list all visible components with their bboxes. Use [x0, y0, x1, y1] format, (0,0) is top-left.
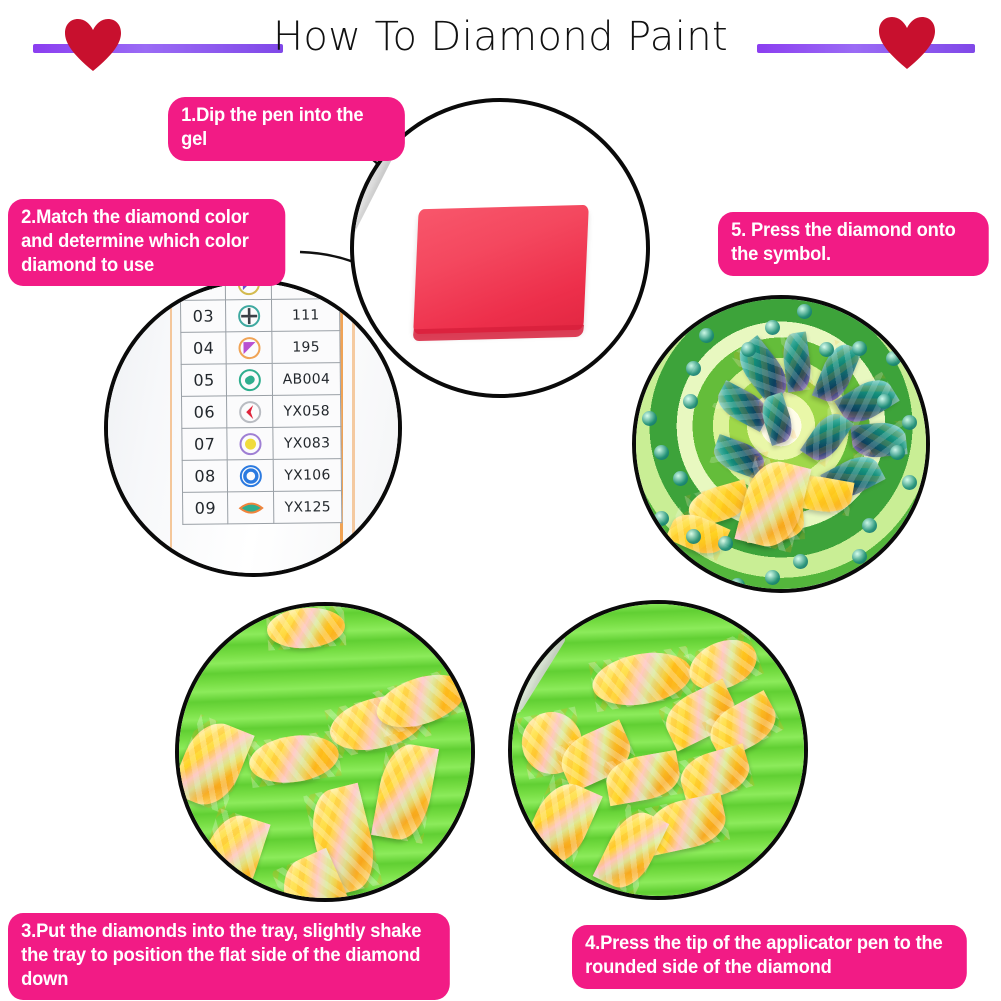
- legend-row: 06YX058: [182, 395, 341, 429]
- diamond: [683, 394, 698, 409]
- legend-code: 093: [271, 279, 339, 299]
- step-2-label: 2.Match the diamond color and determine …: [8, 199, 285, 286]
- step-4-photo: [508, 600, 808, 900]
- legend-number: 07: [182, 428, 228, 460]
- color-legend-table: 02093031110419505AB00406YX05807YX08308YX…: [180, 279, 343, 525]
- ring-icon: [228, 459, 274, 491]
- legend-code: YX058: [273, 395, 341, 428]
- page-title: How To Diamond Paint: [0, 17, 1001, 57]
- quarter-triangle-icon: [226, 331, 272, 363]
- legend-row: 07YX083: [182, 427, 341, 461]
- step-3-photo: [175, 602, 475, 902]
- canvas-edge-line: [170, 279, 172, 577]
- legend-row: 03111: [180, 299, 339, 333]
- legend-code: 195: [272, 331, 340, 364]
- canvas-edge-line: [352, 279, 355, 577]
- legend-row: 08YX106: [182, 459, 341, 493]
- left-chevron-icon: [227, 395, 273, 427]
- page-header: How To Diamond Paint: [0, 0, 1001, 90]
- diamond: [852, 549, 867, 564]
- legend-number: 08: [182, 460, 228, 492]
- step-2-photo: 02093031110419505AB00406YX05807YX08308YX…: [104, 279, 402, 577]
- plus-icon: [226, 299, 272, 331]
- legend-code: 111: [272, 299, 340, 332]
- diamond: [266, 605, 347, 650]
- step-4-label: 4.Press the tip of the applicator pen to…: [572, 925, 967, 989]
- diamond: [890, 445, 905, 460]
- diamond: [654, 445, 669, 460]
- legend-number: 03: [180, 300, 226, 332]
- diamond: [830, 578, 845, 593]
- leaf-icon: [228, 491, 274, 523]
- step-5-label: 5. Press the diamond onto the symbol.: [718, 212, 989, 276]
- legend-code: YX083: [273, 427, 341, 460]
- diamond: [730, 578, 745, 593]
- legend-number: 05: [181, 364, 227, 396]
- diamond: [765, 320, 780, 335]
- filled-dot-icon: [227, 427, 273, 459]
- step-5-photo: [632, 295, 930, 593]
- legend-code: YX106: [273, 459, 341, 492]
- capsule-icon: [227, 363, 273, 395]
- diamond: [718, 536, 733, 551]
- legend-code: YX125: [274, 491, 342, 524]
- legend-row: 09YX125: [183, 491, 342, 525]
- diamond: [686, 529, 701, 544]
- diamond: [906, 511, 921, 526]
- legend-number: 06: [182, 396, 228, 428]
- diamond: [765, 570, 780, 585]
- legend-code: AB004: [272, 363, 340, 396]
- legend-row: 05AB004: [181, 363, 340, 397]
- step-3-label: 3.Put the diamonds into the tray, slight…: [8, 913, 450, 1000]
- diamond: [852, 341, 867, 356]
- step-1-label: 1.Dip the pen into the gel: [168, 97, 405, 161]
- gel-pad: [413, 205, 589, 334]
- legend-row: 04195: [181, 331, 340, 365]
- legend-number: 09: [183, 492, 229, 524]
- legend-number: 04: [181, 332, 227, 364]
